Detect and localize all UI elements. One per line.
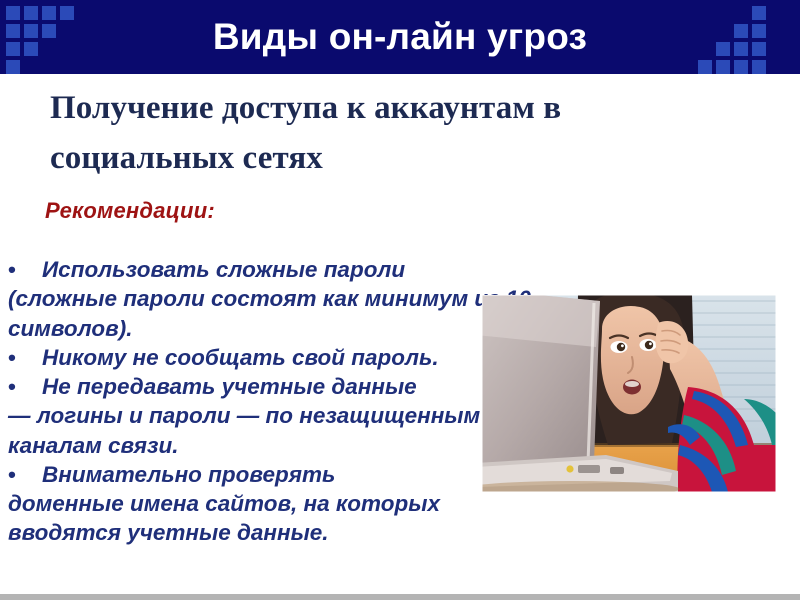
recommendations-label: Рекомендации: xyxy=(45,198,215,224)
bullet-marker-icon: • xyxy=(8,460,42,489)
list-item: •Внимательно проверять xyxy=(8,460,538,489)
list-item: •Никому не сообщать свой пароль. xyxy=(8,343,538,372)
list-item-continuation-text: (сложные пароли состоят как минимум из 1… xyxy=(8,286,531,340)
header-bar: Виды он-лайн угроз xyxy=(0,0,800,74)
slide-subtitle: Получение доступа к аккаунтам в социальн… xyxy=(50,83,750,183)
bullet-marker-icon: • xyxy=(8,372,42,401)
page-title: Виды он-лайн угроз xyxy=(0,0,800,74)
list-item-continuation: доменные имена сайтов, на которых вводят… xyxy=(8,489,538,548)
bottom-strip xyxy=(0,594,800,600)
bullet-marker-icon: • xyxy=(8,255,42,284)
list-item-continuation: — логины и пароли — по незащищенным кана… xyxy=(8,401,538,460)
list-item-continuation: (сложные пароли состоят как минимум из 1… xyxy=(8,284,538,343)
list-item-lead: Никому не сообщать свой пароль. xyxy=(42,345,439,370)
bullet-marker-icon: • xyxy=(8,343,42,372)
list-item: •Использовать сложные пароли xyxy=(8,255,538,284)
slide-canvas: Виды он-лайн угроз Получение доступа к а… xyxy=(0,0,800,600)
list-item-continuation-text: — логины и пароли — по незащищенным кана… xyxy=(8,403,480,457)
list-item-lead: Внимательно проверять xyxy=(42,462,335,487)
list-item-lead: Не передавать учетные данные xyxy=(42,374,417,399)
list-item-continuation-text: доменные имена сайтов, на которых вводят… xyxy=(8,491,440,545)
recommendations-list: •Использовать сложные пароли (сложные па… xyxy=(8,255,538,548)
photo-illustration xyxy=(482,295,776,492)
list-item-lead: Использовать сложные пароли xyxy=(42,257,405,282)
girl-at-laptop-photo xyxy=(482,295,776,492)
list-item: •Не передавать учетные данные xyxy=(8,372,538,401)
